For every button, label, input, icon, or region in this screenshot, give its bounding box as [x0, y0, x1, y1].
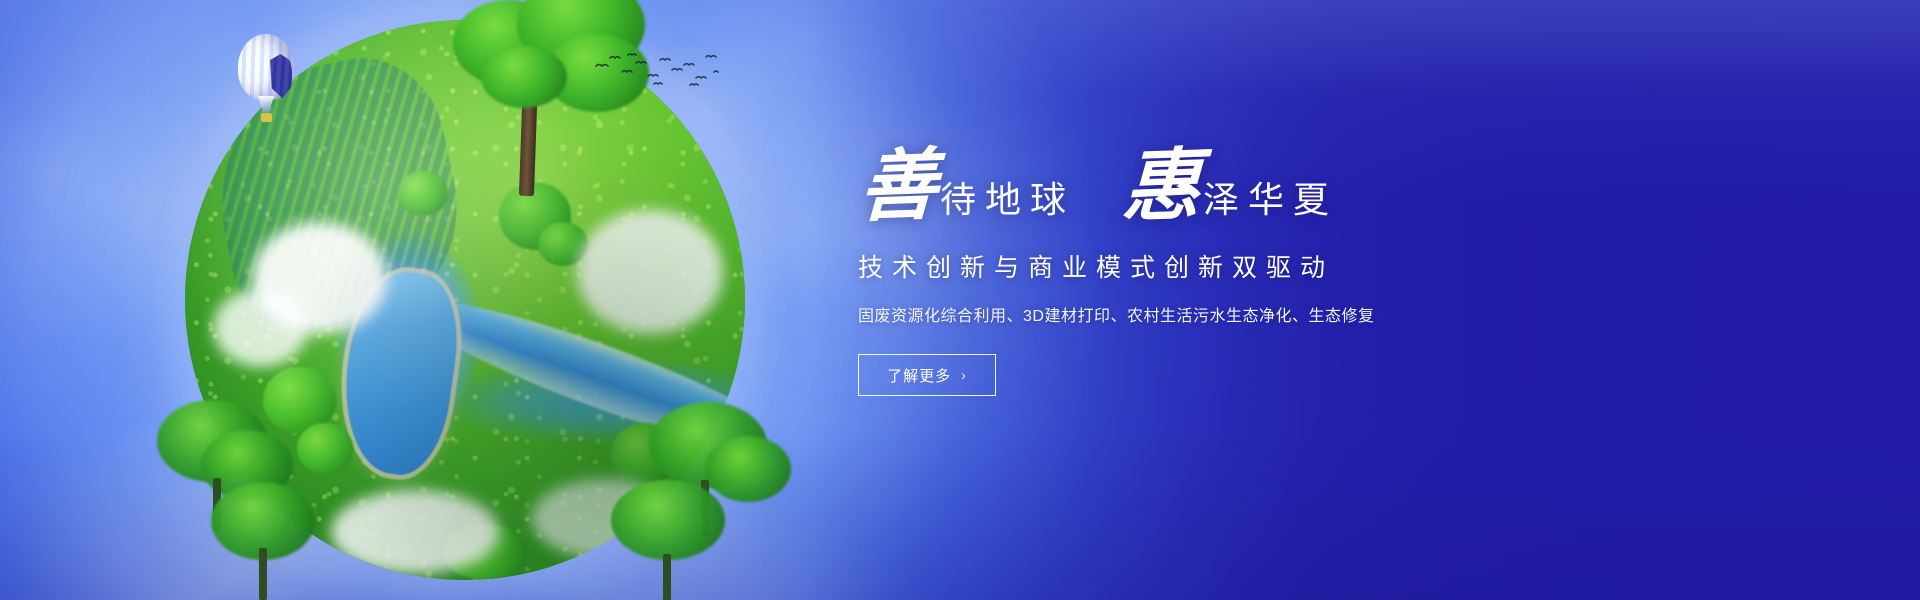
page-description: 固废资源化综合利用、3D建材打印、农村生活污水生态净化、生态修复: [858, 302, 1598, 326]
learn-more-label: 了解更多: [887, 365, 951, 386]
tree-icon: [211, 472, 361, 600]
headline-text-one: 待地球: [940, 182, 1075, 224]
balloon-neck: [258, 96, 274, 114]
headline-text-two: 泽华夏: [1203, 182, 1338, 224]
learn-more-button[interactable]: 了解更多 ›: [858, 354, 996, 396]
balloon-basket: [261, 113, 272, 122]
page-subtitle: 技术创新与商业模式创新双驱动: [858, 248, 1598, 284]
birds-icon: [592, 52, 722, 90]
page-title: 善 待地球 惠 泽华夏: [858, 132, 1598, 224]
headline-char-hui: 惠: [1121, 149, 1206, 224]
chevron-right-icon: ›: [961, 368, 967, 382]
headline-char-shan: 善: [858, 149, 943, 224]
hero-banner: 善 待地球 惠 泽华夏 技术创新与商业模式创新双驱动 固废资源化综合利用、3D建…: [0, 0, 1920, 600]
hero-content: 善 待地球 惠 泽华夏 技术创新与商业模式创新双驱动 固废资源化综合利用、3D建…: [858, 132, 1598, 396]
hot-air-balloon-icon: [238, 34, 294, 126]
tree-canopy: [481, 46, 567, 108]
tree-icon: [425, 0, 655, 200]
tree-icon: [571, 476, 741, 600]
